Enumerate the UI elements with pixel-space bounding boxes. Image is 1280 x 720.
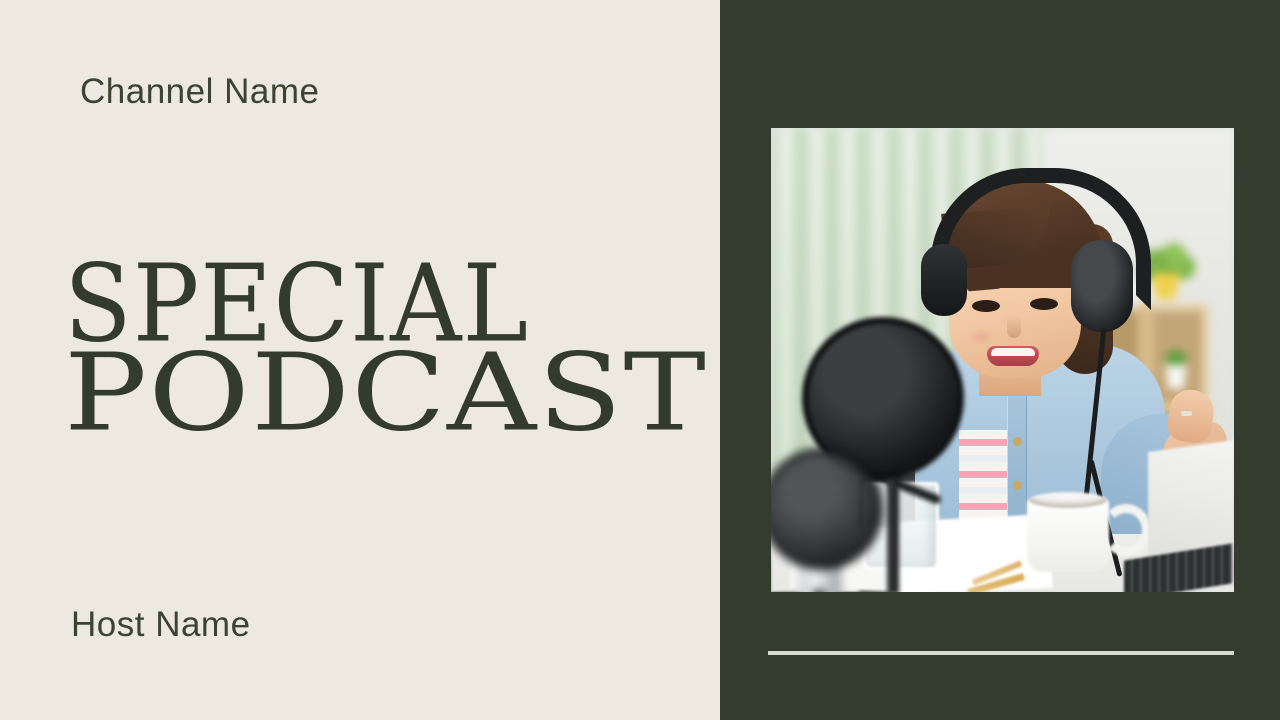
microphone-stand — [887, 464, 899, 592]
channel-name: Channel Name — [80, 72, 319, 112]
teeth — [991, 348, 1035, 356]
finger-ring — [1181, 411, 1192, 416]
coffee-mug — [1027, 498, 1109, 572]
title-line-podcast: PODCAST — [64, 341, 707, 447]
second-microphone-stand — [813, 590, 825, 592]
headphone-earcup-right — [1071, 240, 1133, 332]
nose — [1007, 316, 1021, 338]
coffee-mug-rim — [1029, 492, 1107, 508]
pop-filter — [809, 324, 957, 472]
shirt-button-upper — [1013, 437, 1022, 446]
coffee-mug-handle — [1101, 504, 1151, 556]
right-panel — [720, 0, 1280, 720]
left-panel: Channel Name SPECIAL PODCAST Host Name — [0, 0, 720, 720]
shirt-button-lower — [1013, 481, 1022, 490]
main-title: SPECIAL PODCAST — [64, 252, 624, 442]
podcast-cover-slide: Channel Name SPECIAL PODCAST Host Name — [0, 0, 1280, 720]
host-photo — [771, 128, 1234, 592]
bottom-divider — [768, 651, 1234, 655]
cheek-blush — [967, 328, 995, 346]
shirt-placket — [1007, 384, 1027, 534]
host-photo-frame — [771, 128, 1234, 592]
headphone-earcup-left — [921, 244, 967, 316]
host-name: Host Name — [71, 605, 251, 645]
second-pop-filter — [771, 454, 877, 564]
